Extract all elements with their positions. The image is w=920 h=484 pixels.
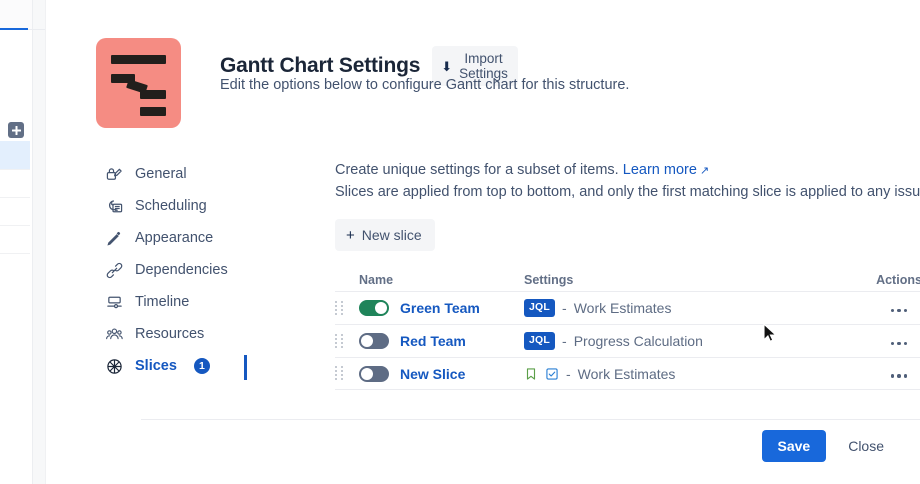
sidebar-item-label: General [135, 166, 187, 182]
gantt-chart-icon [96, 38, 181, 128]
background-left-panel [0, 0, 33, 484]
slices-description-line-1: Create unique settings for a subset of i… [335, 160, 920, 182]
separator-dash: - [562, 333, 567, 349]
slices-panel: Create unique settings for a subset of i… [335, 160, 920, 390]
slice-enabled-toggle[interactable] [359, 366, 389, 382]
slice-enabled-toggle[interactable] [359, 300, 389, 316]
sidebar-item-timeline[interactable]: Timeline [101, 286, 256, 318]
table-row[interactable]: Red Team JQL - Progress Calculation [335, 324, 920, 357]
background-gutter [33, 0, 45, 484]
slice-name-link[interactable]: Green Team [400, 300, 480, 316]
background-row-divider [0, 225, 30, 226]
slice-name-link[interactable]: Red Team [400, 333, 466, 349]
more-actions-icon[interactable] [863, 374, 920, 378]
save-button[interactable]: Save [762, 430, 827, 462]
slice-name-link[interactable]: New Slice [400, 366, 465, 382]
slices-description-line-2: Slices are applied from top to bottom, a… [335, 182, 920, 203]
name-cell: Green Team [359, 300, 524, 316]
footer-divider [141, 419, 920, 420]
settings-cell: - Work Estimates [524, 366, 863, 382]
timeline-icon [105, 293, 124, 312]
slice-enabled-toggle[interactable] [359, 333, 389, 349]
drag-cell [335, 300, 359, 316]
sidebar-item-label: Dependencies [135, 262, 228, 278]
table-row[interactable]: New Slice - Work Esti [335, 357, 920, 390]
jql-badge: JQL [524, 332, 555, 349]
close-button[interactable]: Close [836, 430, 896, 462]
actions-cell [863, 332, 920, 350]
gantt-chart-settings-dialog: Gantt Chart Settings ⬇ Import Settings E… [45, 0, 920, 484]
settings-cell: JQL - Progress Calculation [524, 332, 863, 349]
sidebar-item-resources[interactable]: Resources [101, 318, 256, 350]
background-selected-row [0, 141, 30, 169]
download-arrow-icon: ⬇ [441, 60, 452, 73]
new-slice-button[interactable]: + New slice [335, 219, 435, 251]
pencil-icon [105, 229, 124, 248]
sidebar-item-label: Timeline [135, 294, 189, 310]
name-cell: New Slice [359, 366, 524, 382]
calendar-clock-icon [105, 197, 124, 216]
name-cell: Red Team [359, 333, 524, 349]
actions-cell [863, 365, 920, 383]
pencil-lock-icon [105, 165, 124, 184]
drag-cell [335, 366, 359, 382]
drag-cell [335, 333, 359, 349]
background-row-divider [0, 253, 30, 254]
background-left-panel-inner [0, 30, 32, 484]
column-header-actions: Actions [863, 273, 920, 287]
setting-text: Progress Calculation [574, 333, 703, 349]
drag-handle-icon[interactable] [335, 366, 345, 382]
sidebar-item-label: Resources [135, 326, 204, 342]
people-group-icon [105, 325, 124, 344]
settings-cell: JQL - Work Estimates [524, 299, 863, 316]
more-actions-icon[interactable] [863, 342, 920, 346]
sidebar-item-general[interactable]: General [101, 158, 256, 190]
slices-table: Name Settings Actions Green Team JQL - [335, 269, 920, 390]
drag-handle-icon[interactable] [335, 333, 345, 349]
more-actions-icon[interactable] [863, 309, 920, 313]
slices-description-text: Create unique settings for a subset of i… [335, 162, 619, 178]
actions-cell [863, 299, 920, 317]
jql-badge: JQL [524, 299, 555, 316]
column-header-settings: Settings [524, 273, 863, 287]
link-chain-icon [105, 261, 124, 280]
slices-table-header: Name Settings Actions [335, 269, 920, 291]
dialog-footer: Save Close [762, 430, 897, 462]
sidebar-item-label: Slices [135, 358, 177, 374]
bookmark-icon [524, 367, 538, 381]
external-link-icon: ↗ [697, 165, 709, 177]
separator-dash: - [566, 366, 571, 382]
sidebar-slices-badge: 1 [194, 358, 210, 374]
drag-handle-icon[interactable] [335, 300, 345, 316]
separator-dash: - [562, 300, 567, 316]
background-row-divider [0, 169, 30, 170]
table-row[interactable]: Green Team JQL - Work Estimates [335, 291, 920, 324]
background-row-divider [0, 197, 30, 198]
plus-icon: + [346, 228, 355, 243]
sidebar-item-dependencies[interactable]: Dependencies [101, 254, 256, 286]
setting-text: Work Estimates [578, 366, 676, 382]
sidebar-item-label: Appearance [135, 230, 213, 246]
sidebar-active-indicator [244, 355, 247, 380]
new-slice-label: New slice [362, 227, 422, 243]
sidebar-item-appearance[interactable]: Appearance [101, 222, 256, 254]
sidebar-item-slices[interactable]: Slices 1 [101, 350, 256, 382]
sidebar-item-scheduling[interactable]: Scheduling [101, 190, 256, 222]
plus-icon[interactable] [8, 122, 24, 138]
background-top-accent [0, 28, 28, 30]
learn-more-link[interactable]: Learn more ↗ [623, 162, 709, 178]
sidebar-item-label: Scheduling [135, 198, 207, 214]
learn-more-label: Learn more [623, 162, 697, 178]
column-header-name: Name [359, 273, 524, 287]
pie-slice-icon [105, 357, 124, 376]
checkbox-icon [545, 367, 559, 381]
setting-text: Work Estimates [574, 300, 672, 316]
page-title: Gantt Chart Settings [220, 54, 420, 78]
dialog-subtitle: Edit the options below to configure Gant… [220, 77, 629, 93]
settings-sidebar-nav: General Scheduling Appearance [101, 158, 256, 382]
